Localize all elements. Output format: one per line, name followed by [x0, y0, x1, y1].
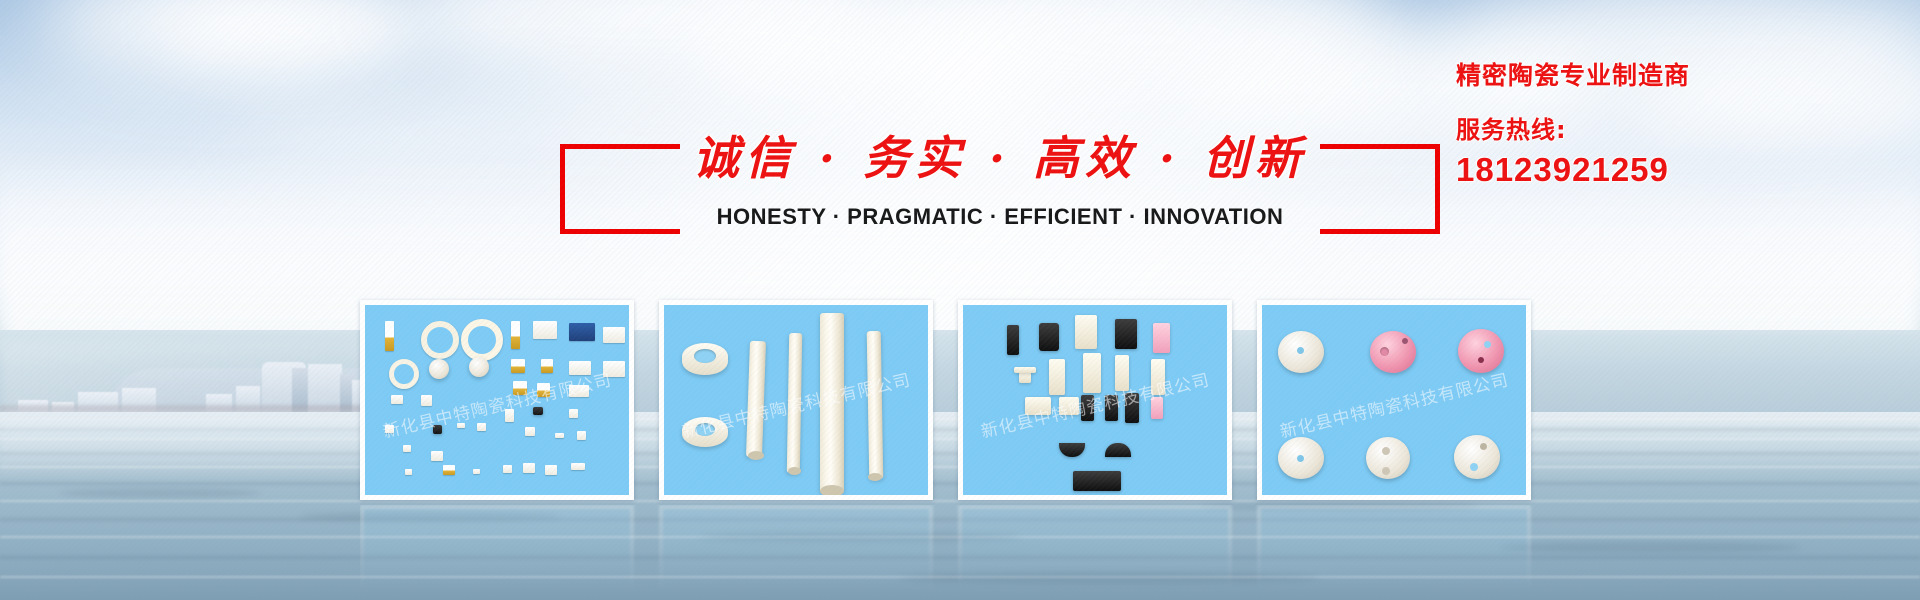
bracket-bar	[560, 229, 680, 234]
ceramic-part	[1014, 367, 1036, 373]
product-panel-3[interactable]: 新化县中特陶瓷科技有限公司	[958, 300, 1232, 500]
disc-hole	[1480, 443, 1487, 450]
ceramic-tube	[867, 331, 884, 479]
disc-hole	[1382, 447, 1390, 455]
hero-banner: 新化县中特陶瓷科技有限公司 新化县中特陶瓷科技有限公司	[0, 0, 1920, 600]
disc-hole	[1380, 347, 1389, 356]
ceramic-tube	[746, 341, 766, 457]
disc-hole	[1470, 463, 1478, 471]
disc-hole	[1484, 341, 1491, 348]
product-photo-1: 新化县中特陶瓷科技有限公司	[365, 305, 629, 495]
bracket-left-decoration	[560, 144, 680, 234]
contact-block: 精密陶瓷专业制造商 服务热线: 18123921259	[1456, 56, 1876, 189]
ceramic-part	[1075, 315, 1097, 349]
ceramic-part	[569, 361, 591, 375]
disc-hole	[1297, 347, 1304, 354]
water-ripple	[900, 572, 1320, 584]
ceramic-part	[473, 469, 480, 474]
ring-hole	[695, 423, 715, 436]
ceramic-part	[469, 357, 489, 377]
ceramic-part	[537, 383, 550, 397]
ceramic-part	[555, 433, 564, 438]
ceramic-part	[545, 465, 557, 475]
slogan-chinese: 诚信 · 务实 · 高效 · 创新	[680, 128, 1320, 188]
water-line	[0, 500, 1920, 502]
water-ripple	[300, 512, 560, 521]
ceramic-part	[1025, 397, 1051, 415]
panel-watermark: 新化县中特陶瓷科技有限公司	[1277, 365, 1511, 442]
ceramic-part	[569, 323, 595, 341]
ceramic-part	[431, 451, 443, 461]
ceramic-part	[1115, 319, 1137, 349]
ceramic-disc	[1458, 329, 1504, 373]
hotline-label: 服务热线:	[1456, 110, 1876, 145]
ceramic-part	[569, 409, 578, 418]
ceramic-part	[603, 361, 625, 377]
bracket-bar	[1435, 144, 1440, 234]
product-panel-1[interactable]: 新化县中特陶瓷科技有限公司	[360, 300, 634, 500]
ceramic-part	[523, 463, 535, 473]
tube-end	[868, 473, 882, 481]
ceramic-part	[511, 359, 525, 373]
ceramic-part	[421, 395, 432, 406]
ceramic-tube	[787, 333, 802, 473]
slogan-block: 诚信 · 务实 · 高效 · 创新 HONESTY · PRAGMATIC · …	[560, 118, 1440, 238]
slogan-english: HONESTY · PRAGMATIC · EFFICIENT · INNOVA…	[680, 204, 1320, 230]
ceramic-part	[385, 425, 394, 433]
ceramic-part	[1059, 443, 1085, 457]
product-photo-2: 新化县中特陶瓷科技有限公司	[664, 305, 928, 495]
ceramic-part	[461, 319, 503, 361]
ceramic-part	[433, 425, 442, 434]
ceramic-part	[1073, 471, 1121, 491]
bracket-bar	[1320, 144, 1440, 149]
ceramic-part	[569, 385, 589, 397]
disc-hole	[1402, 338, 1408, 344]
water-ripple	[1500, 542, 1800, 553]
company-tagline: 精密陶瓷专业制造商	[1456, 56, 1876, 92]
ceramic-part	[477, 423, 486, 431]
ceramic-tube	[820, 313, 844, 493]
ceramic-part	[391, 395, 403, 404]
ceramic-part	[1059, 397, 1079, 415]
bracket-bar	[1320, 229, 1440, 234]
ceramic-part	[525, 427, 535, 436]
ceramic-part	[405, 469, 412, 475]
ceramic-part	[429, 359, 449, 379]
tube-end	[748, 451, 764, 460]
disc-hole	[1297, 455, 1304, 462]
product-photo-3: 新化县中特陶瓷科技有限公司	[963, 305, 1227, 495]
ceramic-part	[1083, 353, 1101, 393]
product-panel-2[interactable]: 新化县中特陶瓷科技有限公司	[659, 300, 933, 500]
ceramic-part	[1115, 355, 1129, 391]
ceramic-part	[533, 321, 557, 339]
ceramic-part	[1151, 397, 1163, 419]
ceramic-part	[1049, 359, 1065, 395]
hotline-number[interactable]: 18123921259	[1456, 151, 1876, 189]
water-ripple	[700, 532, 1020, 542]
ceramic-part	[533, 407, 543, 415]
bracket-right-decoration	[1320, 144, 1440, 234]
ceramic-part	[577, 431, 586, 440]
tube-end	[820, 485, 844, 495]
water-ripple	[60, 488, 260, 498]
tube-end	[788, 467, 801, 475]
ceramic-part	[1039, 323, 1059, 351]
ceramic-part	[1007, 325, 1019, 355]
ceramic-part	[513, 381, 527, 395]
ceramic-part	[503, 465, 512, 473]
ceramic-part	[443, 465, 455, 475]
ceramic-part	[1105, 443, 1131, 457]
ceramic-part	[571, 463, 585, 470]
ceramic-part	[511, 321, 520, 349]
ceramic-part	[385, 321, 394, 351]
bracket-bar	[560, 144, 565, 234]
ceramic-part	[1151, 359, 1165, 395]
ceramic-part	[1153, 323, 1170, 353]
product-panel-4[interactable]: 新化县中特陶瓷科技有限公司	[1257, 300, 1531, 500]
disc-hole	[1478, 357, 1484, 363]
product-photo-4: 新化县中特陶瓷科技有限公司	[1262, 305, 1526, 495]
disc-hole	[1382, 467, 1390, 475]
ceramic-part	[1081, 395, 1094, 421]
ceramic-part	[421, 321, 459, 359]
ceramic-part	[1105, 395, 1118, 421]
water-ripple	[1200, 502, 1480, 511]
ceramic-part	[1125, 393, 1139, 423]
bracket-bar	[560, 144, 680, 149]
ceramic-part	[403, 445, 411, 452]
ceramic-part	[541, 359, 553, 373]
ring-hole	[694, 349, 716, 363]
ceramic-part	[603, 327, 625, 343]
water-line	[0, 518, 1920, 521]
ceramic-part	[389, 359, 419, 389]
ceramic-part	[505, 409, 514, 422]
ceramic-disc	[1370, 331, 1416, 373]
ceramic-disc	[1454, 435, 1500, 479]
product-gallery: 新化县中特陶瓷科技有限公司 新化县中特陶瓷科技有限公司	[360, 300, 1560, 500]
water-line	[0, 556, 1920, 559]
ceramic-part	[457, 423, 465, 428]
